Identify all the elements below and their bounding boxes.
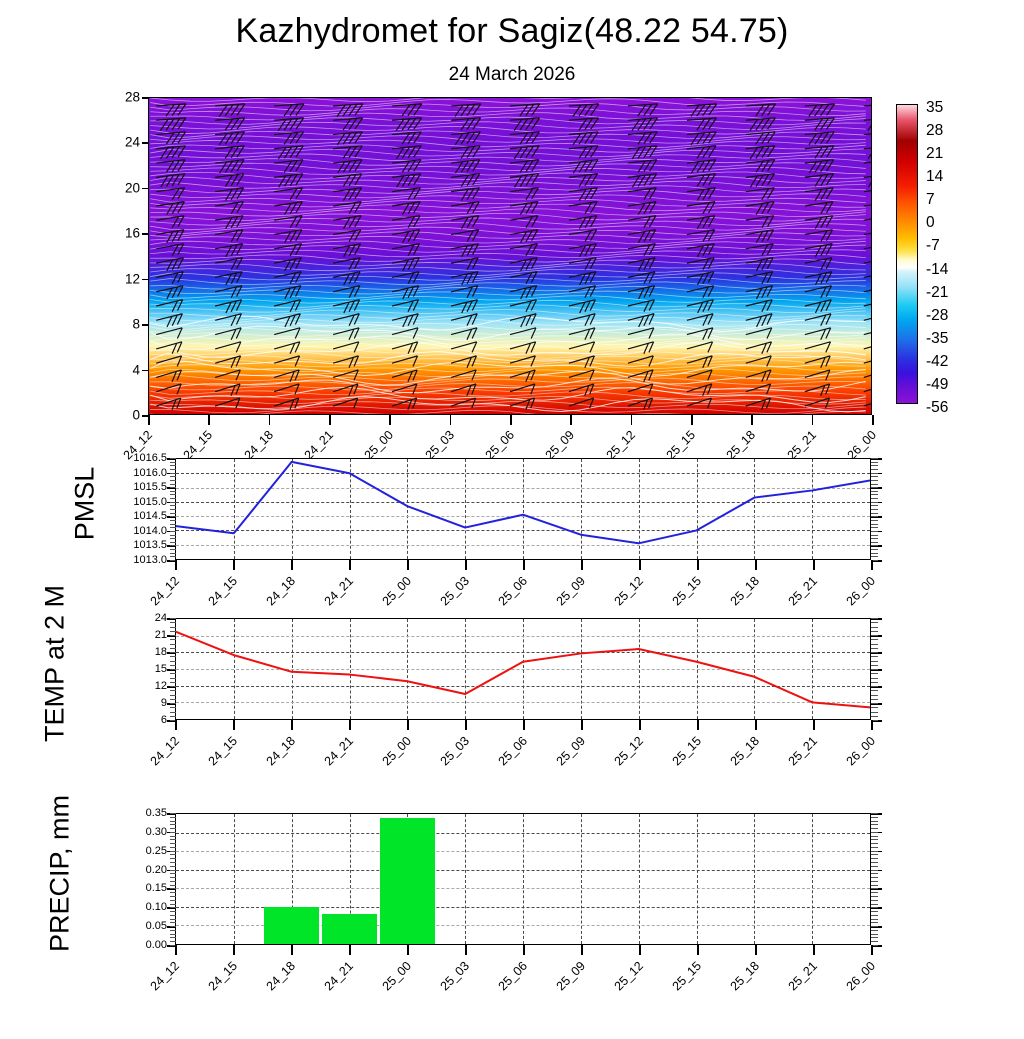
axis-tick xyxy=(871,945,873,955)
axis-tick xyxy=(755,945,757,955)
axis-tick xyxy=(233,945,235,955)
axis-tick xyxy=(697,945,699,955)
precip-x-axis: 24_1224_1524_1824_2125_0025_0325_0625_09… xyxy=(0,0,1024,1024)
axis-tick xyxy=(291,945,293,955)
axis-tick xyxy=(349,945,351,955)
axis-tick xyxy=(175,945,177,955)
axis-tick xyxy=(465,945,467,955)
axis-tick xyxy=(639,945,641,955)
axis-tick xyxy=(407,945,409,955)
axis-tick xyxy=(523,945,525,955)
axis-tick xyxy=(813,945,815,955)
axis-tick xyxy=(581,945,583,955)
